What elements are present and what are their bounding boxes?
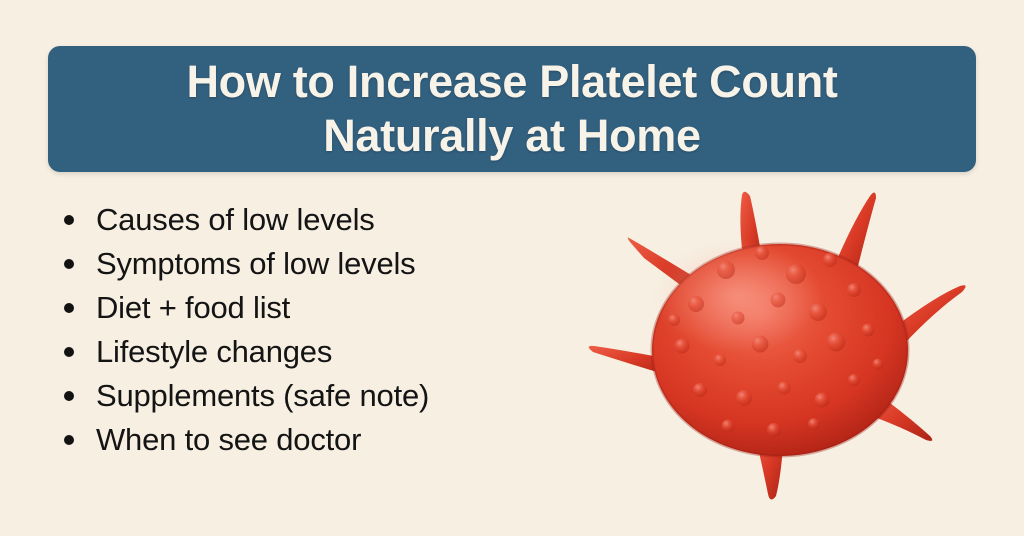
list-item: Causes of low levels [64, 198, 564, 242]
page-title-line-1: How to Increase Platelet Count [186, 55, 837, 109]
bullet-dot-icon [64, 215, 74, 225]
list-item-label: Supplements (safe note) [96, 374, 429, 418]
bullet-dot-icon [64, 347, 74, 357]
list-item-label: Lifestyle changes [96, 330, 332, 374]
list-item: When to see doctor [64, 418, 564, 462]
bullet-dot-icon [64, 303, 74, 313]
bullet-dot-icon [64, 435, 74, 445]
page-title-line-2: Naturally at Home [323, 109, 701, 163]
list-item-label: Causes of low levels [96, 198, 375, 242]
list-item: Supplements (safe note) [64, 374, 564, 418]
list-item-label: Symptoms of low levels [96, 242, 415, 286]
platelet-cell-illustration [578, 178, 982, 504]
list-item-label: When to see doctor [96, 418, 361, 462]
list-item: Symptoms of low levels [64, 242, 564, 286]
infographic-canvas: How to Increase Platelet Count Naturally… [0, 0, 1024, 536]
platelet-highlight [654, 240, 822, 352]
list-item: Diet + food list [64, 286, 564, 330]
title-banner: How to Increase Platelet Count Naturally… [48, 46, 976, 172]
bullet-dot-icon [64, 391, 74, 401]
platelet-cell-icon [578, 178, 982, 504]
bullet-dot-icon [64, 259, 74, 269]
list-item-label: Diet + food list [96, 286, 290, 330]
list-item: Lifestyle changes [64, 330, 564, 374]
topic-bullet-list: Causes of low levels Symptoms of low lev… [64, 198, 564, 462]
